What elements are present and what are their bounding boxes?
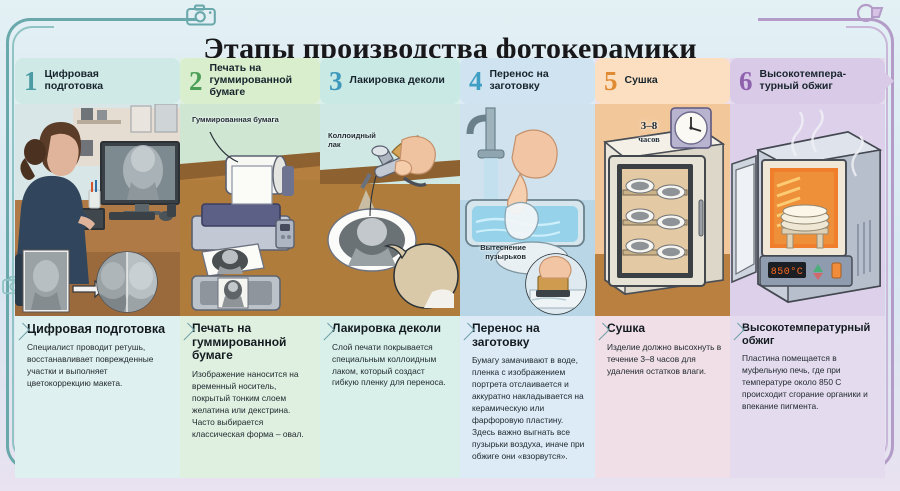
step-illustration-3: Коллоидный лак <box>320 104 460 316</box>
infographic-root: ⟶ <box>0 0 900 491</box>
step-text-1: Специалист проводит ретушь, восстанавлив… <box>27 342 172 390</box>
decorative-frame-top-line <box>52 18 197 21</box>
step-heading-3: Лакировка деколи <box>332 322 452 336</box>
step-header-3[interactable]: 3 Лакировка деколи <box>320 58 460 104</box>
step-number-6: 6 <box>739 68 753 95</box>
annotation-line-2: пузырьков <box>485 252 526 261</box>
step-number-4: 4 <box>469 68 483 95</box>
step-column-3: 3 Лакировка деколи <box>320 58 460 478</box>
decorative-frame-topright-line <box>758 18 848 21</box>
annotation-line-2: лак <box>328 140 341 149</box>
vase-icon <box>852 2 886 26</box>
step-header-5[interactable]: 5 Сушка <box>595 58 730 104</box>
step-illustration-5: 3–8 часов <box>595 104 730 316</box>
step-body-6: Высокотемпературный обжиг Пластина помещ… <box>730 316 885 478</box>
step-heading-1: Цифровая подготовка <box>27 322 172 336</box>
step-column-2: 2 Печать на гуммированной бумаге <box>180 58 320 478</box>
step-header-4[interactable]: 4 Перенос на заготовку <box>460 58 595 104</box>
annotation-gummed-paper: Гуммированная бумага <box>192 116 310 125</box>
step-header-label-5: Сушка <box>625 75 658 87</box>
step-header-label-6: Высокотемпера- турный обжиг <box>760 69 847 93</box>
step-heading-4: Перенос на заготовку <box>472 322 587 349</box>
step-text-5: Изделие должно высохнуть в течение 3–8 ч… <box>607 342 722 378</box>
camera-icon <box>186 4 216 26</box>
step-text-4: Бумагу замачивают в воде, пленка с изобр… <box>472 355 587 462</box>
steps-container: 1 Цифровая подготовка <box>15 58 885 478</box>
step-column-5: 5 Сушка <box>595 58 730 478</box>
step-body-2: Печать на гуммированной бумаге Изображен… <box>180 316 320 478</box>
step-column-6: 6 Высокотемпера- турный обжиг <box>730 58 885 478</box>
step-text-3: Слой печати покрывается специальным колл… <box>332 342 452 390</box>
annotation-bubbles: Вытеснение пузырьков <box>464 244 526 261</box>
step-column-4: 4 Перенос на заготовку <box>460 58 595 478</box>
step-header-6[interactable]: 6 Высокотемпера- турный обжиг <box>730 58 885 104</box>
annotation-line-1: 3–8 <box>641 120 658 132</box>
annotation-colloidal-varnish: Коллоидный лак <box>328 132 392 149</box>
step-number-3: 3 <box>329 68 343 95</box>
step-header-2[interactable]: 2 Печать на гуммированной бумаге <box>180 58 320 104</box>
step-body-5: Сушка Изделие должно высохнуть в течение… <box>595 316 730 478</box>
step-header-label-2: Печать на гуммированной бумаге <box>210 63 315 99</box>
step-illustration-6: 850°C <box>730 104 885 316</box>
step-number-5: 5 <box>604 68 618 95</box>
annotation-drying-hours: 3–8 часов <box>625 120 673 145</box>
step-text-6: Пластина помещается в муфельную печь, гд… <box>742 353 877 413</box>
step-illustration-1 <box>15 104 180 316</box>
step-body-1: Цифровая подготовка Специалист проводит … <box>15 316 180 478</box>
step-heading-6: Высокотемпературный обжиг <box>742 322 877 347</box>
step-column-1: 1 Цифровая подготовка <box>15 58 180 478</box>
step-body-4: Перенос на заготовку Бумагу замачивают в… <box>460 316 595 478</box>
step-illustration-4: Вытеснение пузырьков <box>460 104 595 316</box>
step-heading-2: Печать на гуммированной бумаге <box>192 322 312 363</box>
step-body-3: Лакировка деколи Слой печати покрывается… <box>320 316 460 478</box>
step-text-2: Изображение наносится на временный носит… <box>192 369 312 441</box>
annotation-line-2: часов <box>638 134 659 144</box>
step-header-1[interactable]: 1 Цифровая подготовка <box>15 58 180 104</box>
step-header-label-1: Цифровая подготовка <box>45 69 104 93</box>
step-number-1: 1 <box>24 68 38 95</box>
svg-text:850°C: 850°C <box>771 266 804 278</box>
step-header-label-3: Лакировка деколи <box>350 75 445 87</box>
step-illustration-2: Гуммированная бумага <box>180 104 320 316</box>
step-heading-5: Сушка <box>607 322 722 336</box>
step-number-2: 2 <box>189 68 203 95</box>
step-header-label-4: Перенос на заготовку <box>490 69 590 93</box>
